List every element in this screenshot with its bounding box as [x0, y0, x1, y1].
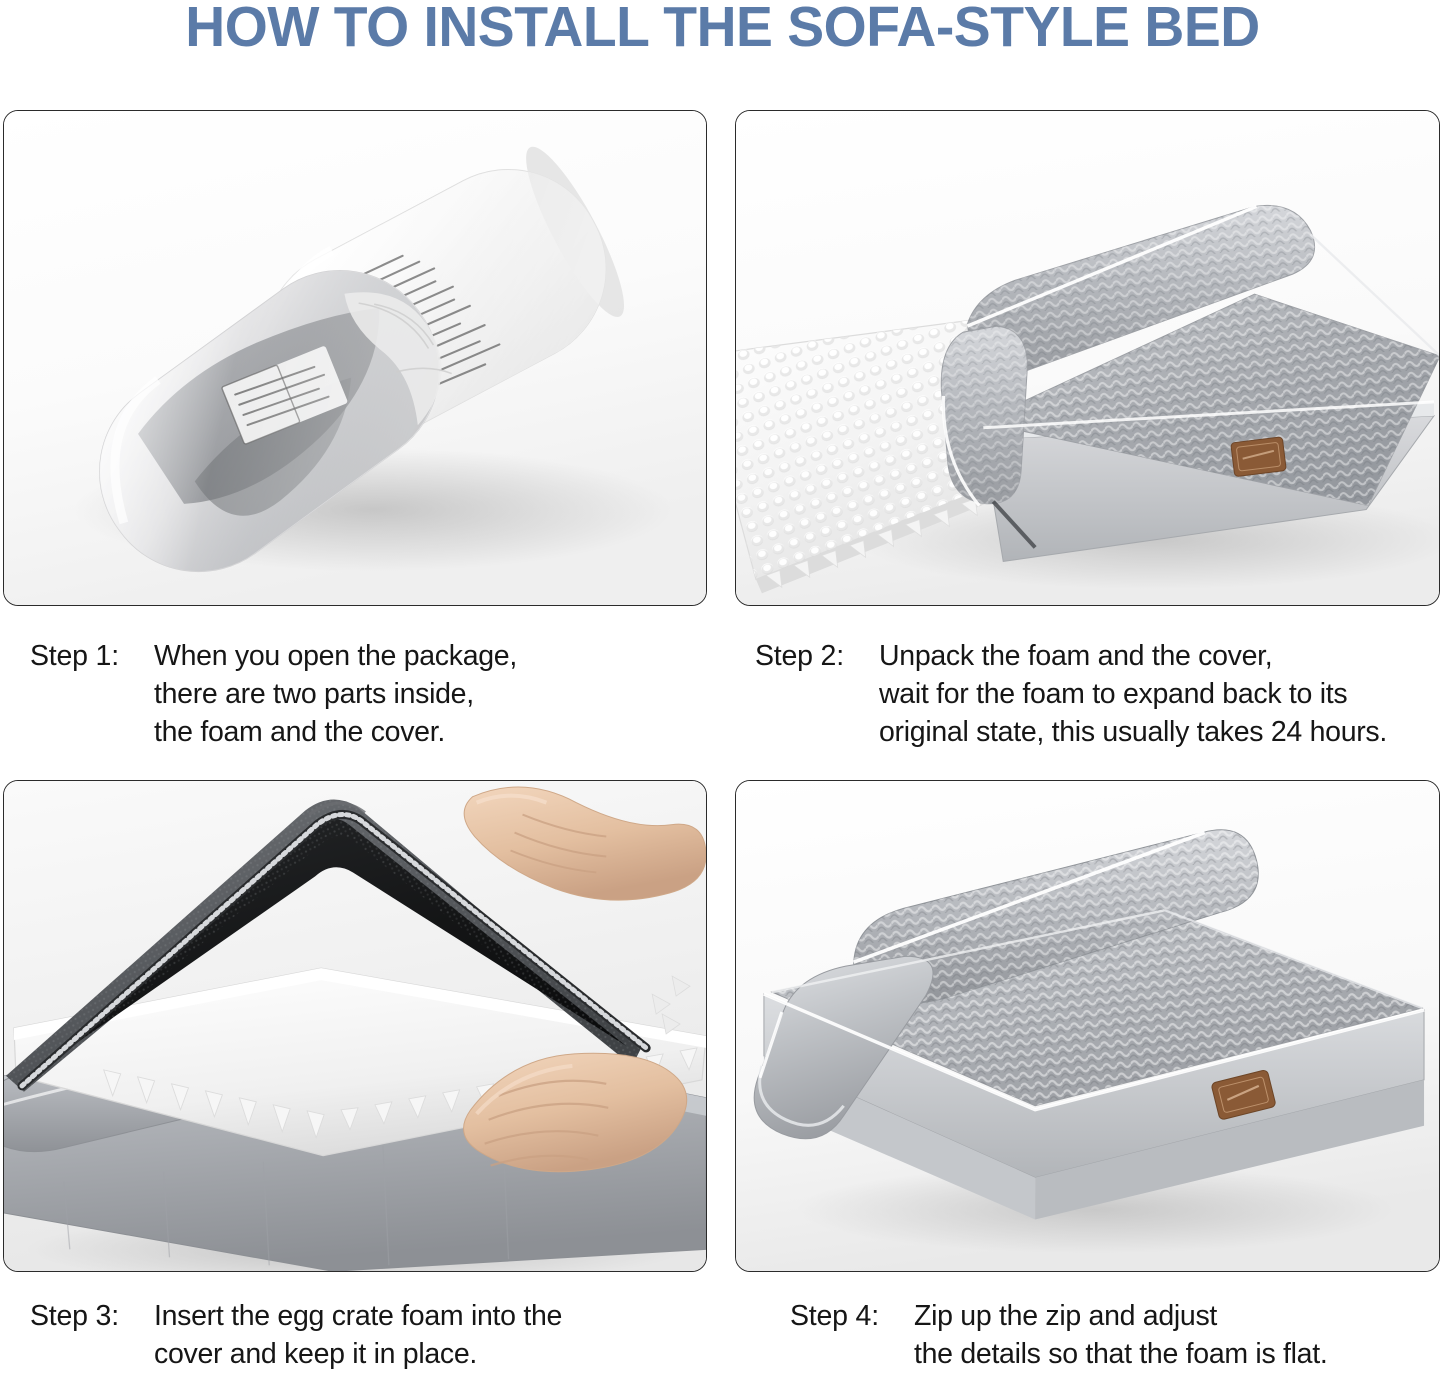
step-2-label: Step 2:: [755, 637, 879, 675]
packaged-rolls-illustration: [4, 111, 706, 605]
step-3-caption: Step 3: Insert the egg crate foam into t…: [30, 1297, 562, 1373]
insert-foam-illustration: [4, 781, 706, 1271]
finished-bed-illustration: [736, 781, 1439, 1271]
step-3-text: Insert the egg crate foam into the cover…: [154, 1297, 562, 1373]
step-4-text: Zip up the zip and adjust the details so…: [914, 1297, 1327, 1373]
step-1-label: Step 1:: [30, 637, 154, 675]
foam-and-cover-illustration: [736, 111, 1439, 605]
leather-tag: [1231, 437, 1287, 477]
step-1-image-panel: [3, 110, 707, 606]
step-3-label: Step 3:: [30, 1297, 154, 1335]
step-1-text: When you open the package, there are two…: [154, 637, 517, 751]
step-4-label: Step 4:: [790, 1297, 914, 1335]
step-2-caption: Step 2: Unpack the foam and the cover, w…: [755, 637, 1387, 751]
step-4-image-panel: [735, 780, 1440, 1272]
step-1-caption: Step 1: When you open the package, there…: [30, 637, 517, 751]
page-title: HOW TO INSTALL THE SOFA-STYLE BED: [22, 0, 1424, 58]
step-3-image-panel: [3, 780, 707, 1272]
infographic-page: HOW TO INSTALL THE SOFA-STYLE BED: [0, 0, 1445, 1370]
step-2-image-panel: [735, 110, 1440, 606]
step-4-caption: Step 4: Zip up the zip and adjust the de…: [790, 1297, 1327, 1373]
step-2-text: Unpack the foam and the cover, wait for …: [879, 637, 1387, 751]
